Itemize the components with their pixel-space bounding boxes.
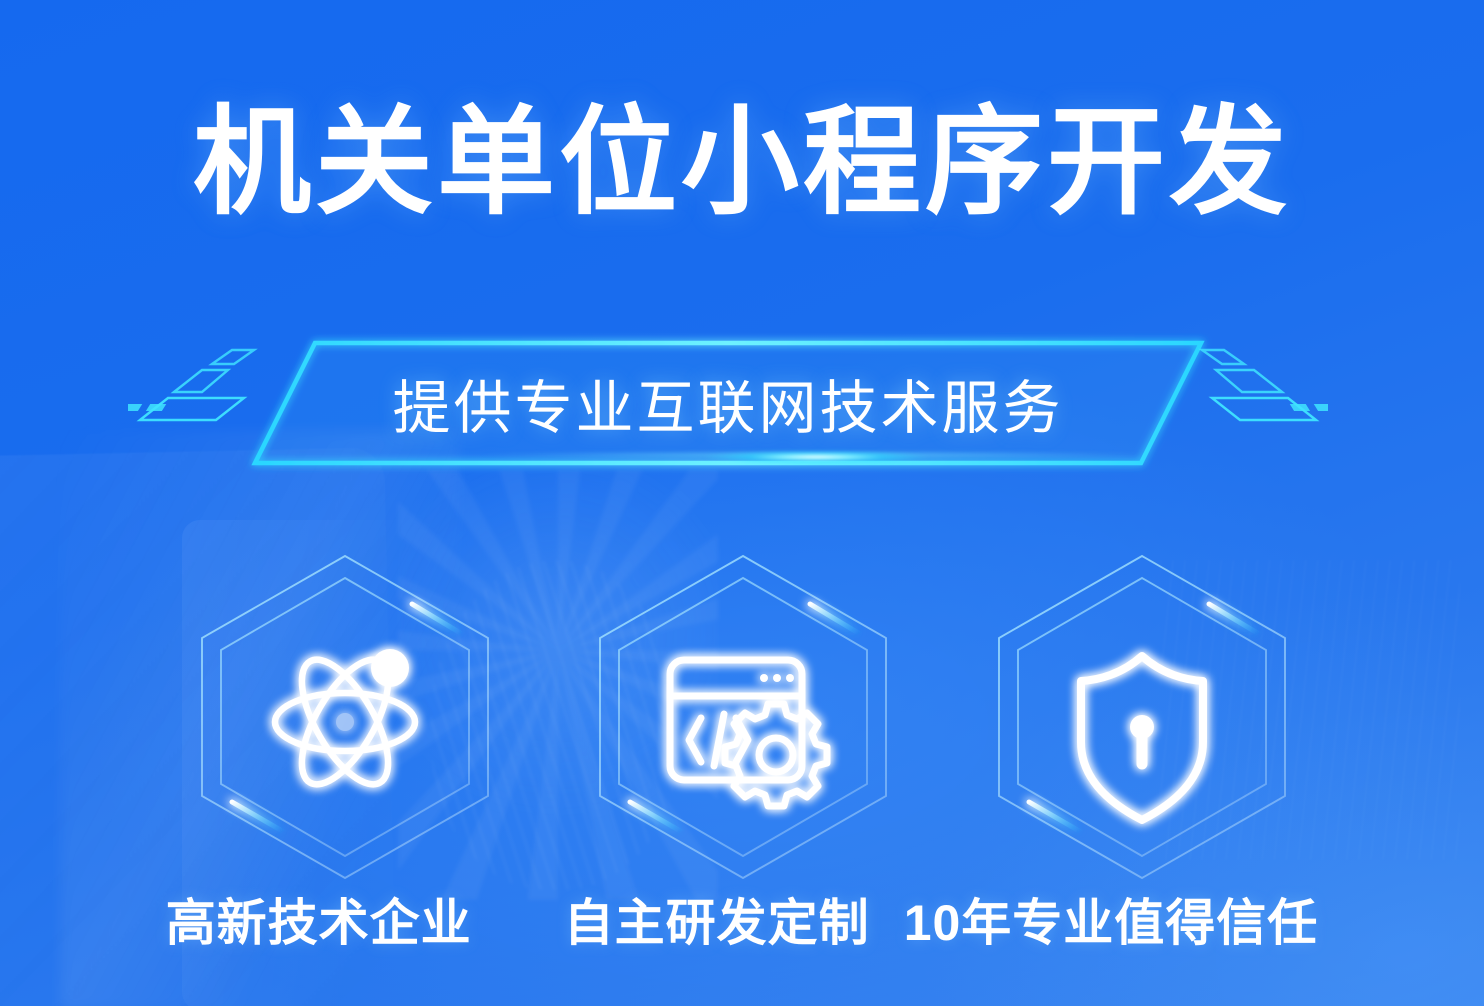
promo-banner: 机关单位小程序开发	[0, 0, 1484, 1006]
tech-lines-left-icon	[128, 334, 268, 459]
feature-icon-row	[0, 552, 1484, 882]
page-title: 机关单位小程序开发	[0, 104, 1484, 222]
feature-hexagon-0	[180, 552, 510, 882]
feature-label-2: 10年专业值得信任	[904, 883, 1319, 955]
feature-label-0: 高新技术企业	[166, 883, 472, 955]
feature-hexagon-1	[578, 552, 908, 882]
feature-label-row: 高新技术企业 自主研发定制 10年专业值得信任	[0, 884, 1484, 954]
tech-lines-right-icon	[1178, 334, 1328, 459]
subtitle-text: 提供专业互联网技术服务	[253, 340, 1203, 466]
feature-label-1: 自主研发定制	[564, 883, 870, 955]
subtitle-banner: 提供专业互联网技术服务	[0, 334, 1484, 484]
banner-flare-streak	[400, 450, 1230, 460]
feature-hexagon-2	[977, 552, 1307, 882]
subtitle-hexagon-frame: 提供专业互联网技术服务	[253, 340, 1203, 466]
